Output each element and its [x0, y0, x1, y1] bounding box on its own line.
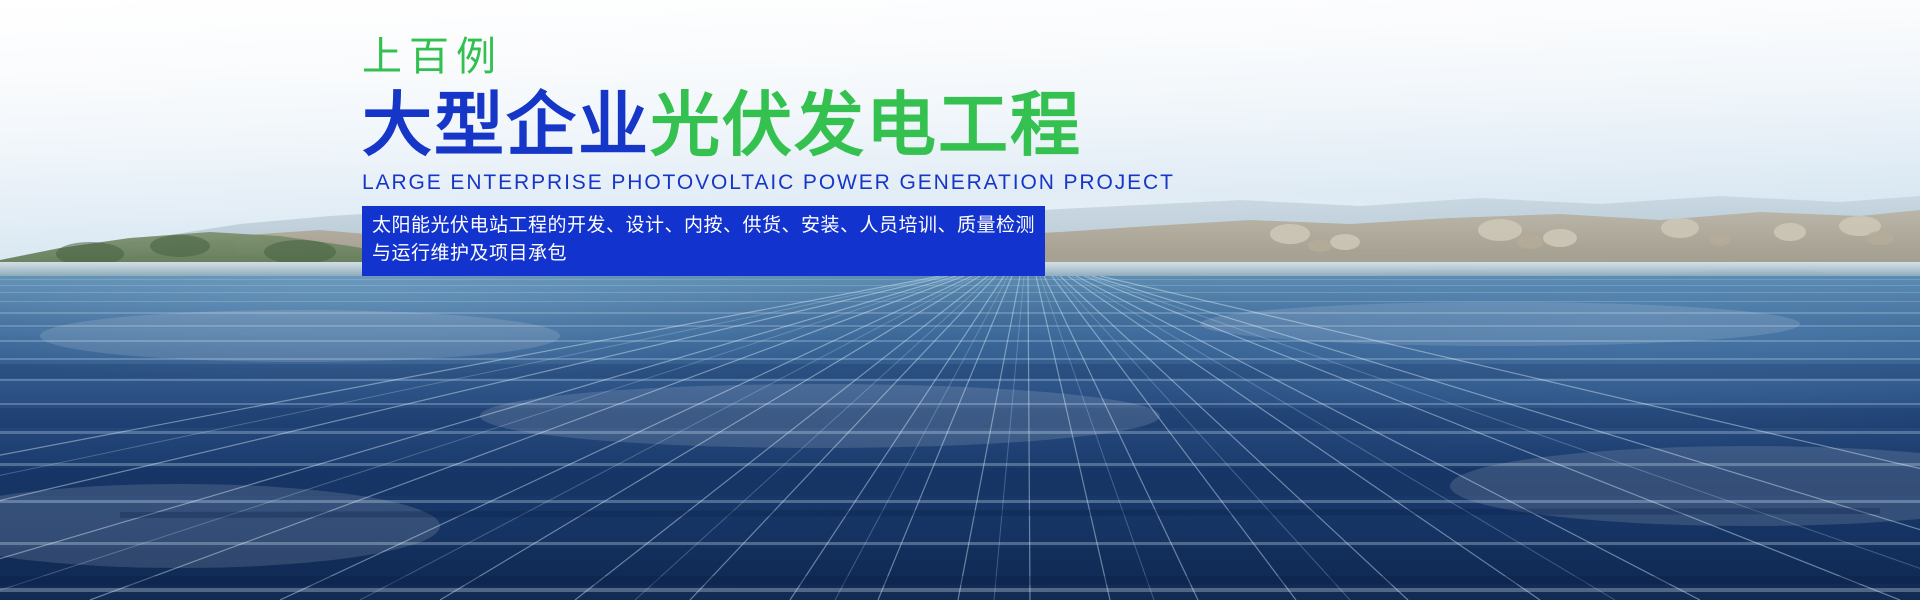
panel-column-lines [0, 276, 1920, 600]
page-title: 大型企业光伏发电工程 [362, 86, 1182, 164]
subtitle-english: LARGE ENTERPRISE PHOTOVOLTAIC POWER GENE… [362, 170, 1182, 196]
description-box: 太阳能光伏电站工程的开发、设计、内按、供货、安装、人员培训、质量检测 与运行维护… [362, 206, 1045, 276]
headline-green-part: 光伏发电工程 [650, 86, 1082, 164]
description-line-2: 与运行维护及项目承包 [372, 240, 1035, 268]
kicker-text: 上百例 [362, 34, 1182, 80]
headline-blue-part: 大型企业 [362, 86, 650, 164]
solar-panel-array [0, 276, 1920, 600]
description-line-1: 太阳能光伏电站工程的开发、设计、内按、供货、安装、人员培训、质量检测 [372, 212, 1035, 240]
solar-project-banner: 上百例 大型企业光伏发电工程 LARGE ENTERPRISE PHOTOVOL… [0, 0, 1920, 600]
banner-copy: 上百例 大型企业光伏发电工程 LARGE ENTERPRISE PHOTOVOL… [362, 34, 1182, 276]
